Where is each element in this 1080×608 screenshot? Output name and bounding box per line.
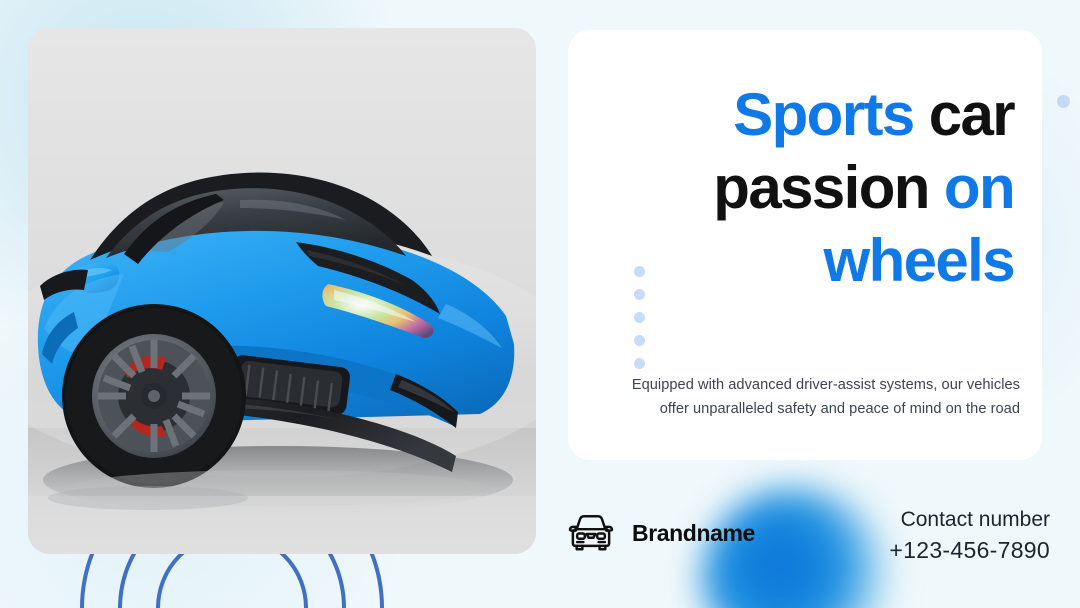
headline-line-2: passion on bbox=[592, 151, 1014, 224]
decoration-dot bbox=[634, 335, 645, 346]
decorative-dot-right bbox=[1057, 95, 1070, 108]
headline-line-3: wheels bbox=[592, 224, 1014, 297]
decoration-dot bbox=[634, 358, 645, 369]
brand-lockup[interactable]: Brandname bbox=[564, 512, 755, 554]
decoration-dot bbox=[634, 289, 645, 300]
dot-list-decoration bbox=[634, 266, 645, 369]
car-illustration bbox=[28, 28, 536, 554]
headline-word-car: car bbox=[929, 81, 1014, 148]
headline-card: Sports car passion on wheels Equipped wi… bbox=[568, 30, 1042, 460]
headline-word-wheels: wheels bbox=[824, 227, 1015, 294]
headline-line-1: Sports car bbox=[592, 78, 1014, 151]
headline-word-on: on bbox=[944, 154, 1014, 221]
car-photo bbox=[28, 28, 536, 554]
decoration-dot bbox=[634, 266, 645, 277]
car-front-icon bbox=[564, 512, 618, 554]
brand-name-label: Brandname bbox=[632, 520, 755, 547]
contact-block: Contact number +123-456-7890 bbox=[889, 505, 1050, 567]
decoration-dot bbox=[634, 312, 645, 323]
headline-word-passion: passion bbox=[713, 154, 929, 221]
headline-word-sports: Sports bbox=[733, 81, 913, 148]
contact-label: Contact number bbox=[889, 505, 1050, 535]
page-title: Sports car passion on wheels bbox=[592, 78, 1014, 298]
poster-canvas: Sports car passion on wheels Equipped wi… bbox=[0, 0, 1080, 608]
contact-number[interactable]: +123-456-7890 bbox=[889, 535, 1050, 567]
body-paragraph: Equipped with advanced driver-assist sys… bbox=[622, 374, 1020, 421]
